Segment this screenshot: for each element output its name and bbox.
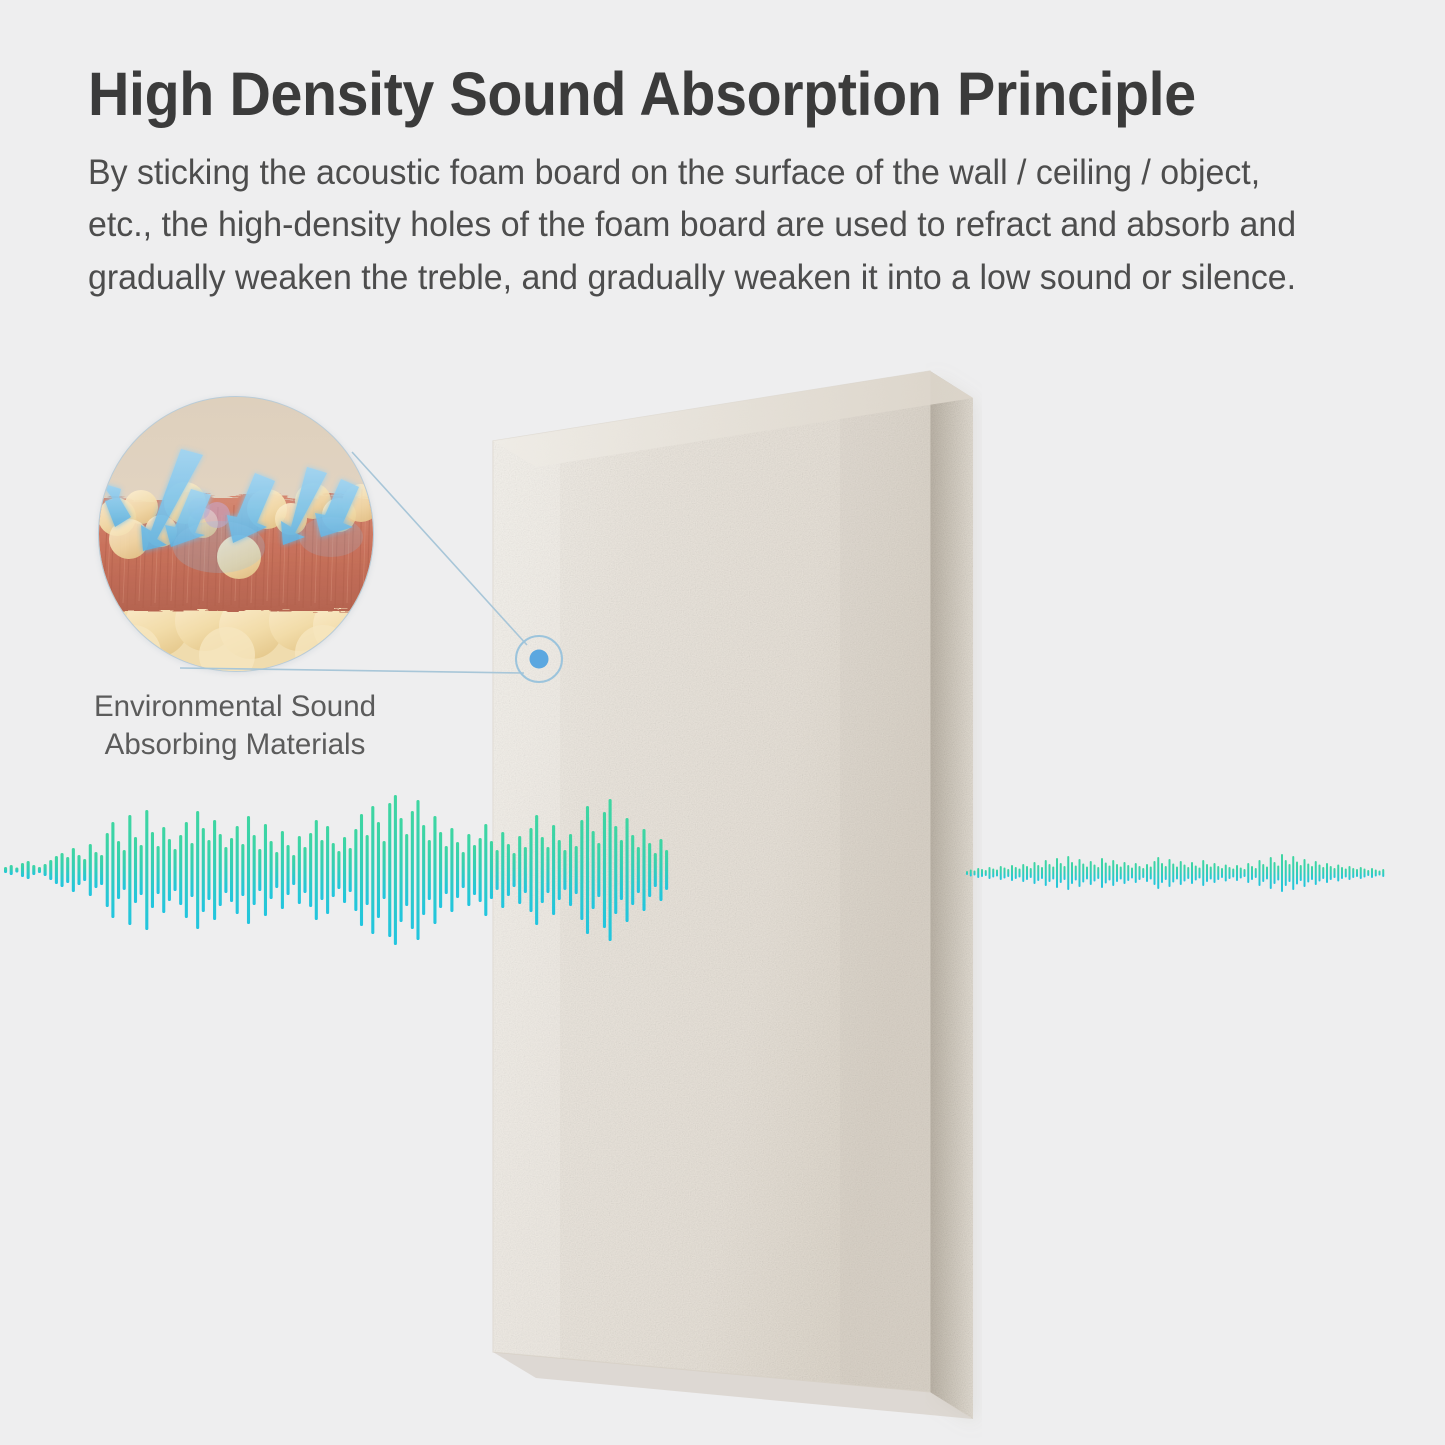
waveform-bar bbox=[400, 818, 403, 922]
waveform-bar bbox=[665, 850, 668, 890]
waveform-bar bbox=[1210, 867, 1212, 880]
waveform-bar bbox=[1289, 864, 1291, 882]
waveform-bar bbox=[1086, 867, 1088, 880]
panel-bottom-shade bbox=[493, 1352, 973, 1419]
waveform-bar bbox=[637, 847, 640, 893]
waveform-bar bbox=[241, 844, 244, 896]
waveform-bar bbox=[1206, 864, 1208, 882]
waveform-bar bbox=[1240, 868, 1242, 879]
waveform-bar bbox=[77, 855, 80, 885]
waveform-bar bbox=[479, 838, 482, 902]
waveform-bar bbox=[473, 845, 476, 895]
waveform-bar bbox=[1101, 858, 1103, 888]
connector-line-top bbox=[352, 452, 527, 645]
waveform-bar bbox=[15, 868, 18, 873]
waveform-bar bbox=[230, 838, 233, 902]
waveform-bar bbox=[111, 822, 114, 918]
waveform-bar bbox=[1304, 859, 1306, 887]
waveform-bar bbox=[428, 840, 431, 900]
waveform-bar bbox=[38, 867, 41, 873]
waveform-bar bbox=[326, 826, 329, 914]
waveform-bar bbox=[1292, 856, 1294, 890]
waveform-bar bbox=[94, 852, 97, 888]
waveform-bar bbox=[586, 806, 589, 934]
magnifier-caption-line2: Absorbing Materials bbox=[60, 726, 410, 764]
waveform-bar bbox=[501, 832, 504, 908]
waveform-bar bbox=[1139, 866, 1141, 880]
waveform-bar bbox=[1150, 867, 1152, 880]
waveform-bar bbox=[55, 856, 58, 884]
waveform-bar bbox=[1094, 865, 1096, 882]
waveform-bar bbox=[1007, 869, 1009, 877]
waveform-bar bbox=[83, 859, 86, 881]
waveform-bar bbox=[1109, 866, 1111, 881]
waveform-bar bbox=[981, 869, 983, 877]
waveform-bar bbox=[614, 826, 617, 914]
waveform-bar bbox=[1146, 864, 1148, 882]
waveform-bar bbox=[416, 800, 419, 940]
waveform-bar bbox=[224, 847, 227, 893]
waveform-bar bbox=[162, 827, 165, 913]
waveform-bar bbox=[32, 865, 35, 875]
waveform-bar bbox=[354, 829, 357, 911]
waveform-bar bbox=[1232, 869, 1234, 878]
waveform-bar bbox=[1187, 867, 1189, 879]
waveform-bar bbox=[1225, 865, 1227, 882]
waveform-bar bbox=[1157, 857, 1159, 889]
waveform-bar bbox=[1105, 863, 1107, 884]
waveform-bar bbox=[1259, 860, 1261, 886]
waveform-bar bbox=[1161, 863, 1163, 883]
waveform-bar bbox=[1079, 859, 1081, 887]
waveform-bar bbox=[1251, 866, 1253, 880]
waveform-bar bbox=[140, 845, 143, 895]
waveform-bar bbox=[1315, 861, 1317, 885]
waveform-bar bbox=[247, 816, 250, 924]
waveform-bar bbox=[603, 812, 606, 928]
waveform-bar bbox=[1371, 868, 1373, 878]
waveform-bar bbox=[309, 833, 312, 907]
waveform-bar bbox=[659, 839, 662, 901]
target-ring bbox=[516, 636, 562, 682]
waveform-bar bbox=[996, 870, 998, 877]
waveform-bar bbox=[1180, 861, 1182, 885]
waveform-bar bbox=[1165, 866, 1167, 880]
waveform-bar bbox=[411, 811, 414, 929]
waveform-bar bbox=[287, 845, 290, 895]
waveform-bar bbox=[89, 844, 92, 896]
waveform-bar bbox=[1285, 860, 1287, 886]
waveform-bar bbox=[1090, 861, 1092, 885]
waveform-bar bbox=[292, 855, 295, 885]
magnifier-caption-line1: Environmental Sound bbox=[94, 690, 376, 723]
waveform-bar bbox=[1026, 866, 1028, 880]
waveform-bar bbox=[1000, 866, 1002, 880]
waveform-bar bbox=[1217, 866, 1219, 880]
waveform-bar bbox=[450, 828, 453, 912]
waveform-bar bbox=[484, 824, 487, 916]
target-dot bbox=[530, 650, 549, 669]
waveform-bar bbox=[145, 810, 148, 930]
waveform-bar bbox=[1116, 864, 1118, 882]
waveform-bar bbox=[1019, 869, 1021, 878]
waveform-bar bbox=[343, 837, 346, 903]
panel-top-rim bbox=[493, 371, 973, 467]
infographic-canvas: High Density Sound Absorption Principle … bbox=[0, 0, 1445, 1445]
waveform-bar bbox=[974, 871, 976, 876]
waveform-bar bbox=[1176, 867, 1178, 880]
waveform-bar bbox=[507, 844, 510, 896]
waveform-bar bbox=[467, 834, 470, 906]
waveform-bar bbox=[445, 846, 448, 894]
waveform-bar bbox=[219, 834, 222, 906]
waveform-bar bbox=[992, 869, 994, 878]
waveform-bar bbox=[1037, 865, 1039, 881]
waveform-bar bbox=[4, 867, 7, 873]
waveform-bar bbox=[21, 863, 24, 877]
waveform-bar bbox=[117, 841, 120, 899]
waveform-bar bbox=[185, 822, 188, 918]
waveform-bar bbox=[552, 825, 555, 915]
waveform-bar bbox=[320, 840, 323, 900]
waveform-bar bbox=[405, 834, 408, 906]
waveform-bar bbox=[1274, 862, 1276, 884]
waveform-bar bbox=[642, 829, 645, 911]
waveform-bar bbox=[337, 851, 340, 889]
waveform-bar bbox=[1199, 868, 1201, 879]
waveform-bar bbox=[1064, 866, 1066, 880]
waveform-bar bbox=[1379, 871, 1381, 876]
magnifier-caption: Environmental Sound Absorbing Materials bbox=[60, 688, 410, 765]
waveform-bar bbox=[1127, 865, 1129, 881]
waveform-bar bbox=[1049, 864, 1051, 882]
waveform-bar bbox=[1311, 866, 1313, 880]
waveform-bar bbox=[134, 837, 137, 903]
waveform-bar bbox=[966, 871, 968, 875]
waveform-bar bbox=[315, 820, 318, 920]
waveform-bar bbox=[654, 853, 657, 887]
waveform-bar bbox=[1375, 870, 1377, 877]
waveform-bar bbox=[371, 806, 374, 934]
waveform-bar bbox=[1124, 862, 1126, 884]
waveform-bar bbox=[49, 860, 52, 880]
waveform-bar bbox=[349, 848, 352, 892]
waveform-bar bbox=[1352, 868, 1354, 878]
waveform-bar bbox=[128, 815, 131, 925]
waveform-bar bbox=[264, 824, 267, 916]
waveform-bar bbox=[275, 852, 278, 888]
waveform-bar bbox=[597, 843, 600, 897]
waveform-bar bbox=[1214, 863, 1216, 883]
waveform-bar bbox=[1034, 862, 1036, 884]
waveform-bar bbox=[1337, 865, 1339, 882]
waveform-incoming bbox=[4, 770, 684, 970]
waveform-bar bbox=[1112, 860, 1114, 886]
waveform-bar bbox=[620, 840, 623, 900]
waveform-bar bbox=[1326, 863, 1328, 883]
waveform-bar bbox=[1334, 868, 1336, 878]
waveform-bar bbox=[558, 840, 561, 900]
waveform-bar bbox=[1060, 863, 1062, 883]
waveform-bar bbox=[1135, 863, 1137, 883]
waveform-bar bbox=[123, 850, 126, 890]
waveform-bar bbox=[1015, 867, 1017, 879]
waveform-bar bbox=[1022, 864, 1024, 882]
waveform-bar bbox=[529, 828, 532, 912]
waveform-bar bbox=[1045, 860, 1047, 886]
waveform-bar bbox=[236, 826, 239, 914]
waveform-bar bbox=[377, 822, 380, 918]
waveform-bar bbox=[1082, 864, 1084, 883]
waveform-bar bbox=[456, 842, 459, 898]
waveform-bar bbox=[1142, 868, 1144, 878]
waveform-bar bbox=[546, 847, 549, 893]
waveform-bar bbox=[168, 839, 171, 901]
waveform-bar bbox=[1364, 869, 1366, 878]
waveform-bar bbox=[1202, 860, 1204, 886]
waveform-bar bbox=[1221, 868, 1223, 878]
waveform-bar bbox=[1319, 865, 1321, 882]
waveform-bar bbox=[1382, 869, 1384, 877]
waveform-bar bbox=[970, 870, 972, 877]
waveform-bar bbox=[174, 849, 177, 891]
waveform-bar bbox=[360, 814, 363, 926]
waveform-bar bbox=[1367, 870, 1369, 876]
waveform-bar bbox=[1281, 854, 1283, 892]
waveform-bar bbox=[196, 811, 199, 929]
waveform-bar bbox=[1131, 868, 1133, 879]
waveform-bar bbox=[1191, 862, 1193, 884]
waveform-bar bbox=[1041, 867, 1043, 879]
waveform-bar bbox=[106, 833, 109, 907]
waveform-bar bbox=[1247, 863, 1249, 883]
waveform-bar bbox=[1120, 867, 1122, 880]
waveform-bar bbox=[1300, 865, 1302, 881]
waveform-bar bbox=[1011, 865, 1013, 881]
waveform-bar bbox=[524, 847, 527, 893]
waveform-bar bbox=[270, 841, 273, 899]
waveform-bar bbox=[1356, 869, 1358, 877]
waveform-bar bbox=[1056, 858, 1058, 888]
page-description: By sticking the acoustic foam board on t… bbox=[88, 146, 1320, 304]
waveform-bar bbox=[626, 818, 629, 922]
waveform-attenuated bbox=[966, 828, 1386, 918]
waveform-bar bbox=[985, 870, 987, 876]
waveform-bar bbox=[1004, 868, 1006, 879]
waveform-bar bbox=[100, 855, 103, 885]
waveform-bar bbox=[989, 867, 991, 879]
waveform-bar bbox=[1030, 868, 1032, 878]
waveform-bar bbox=[1262, 864, 1264, 882]
waveform-bar bbox=[535, 815, 538, 925]
waveform-bar bbox=[563, 850, 566, 890]
waveform-bar bbox=[490, 841, 493, 899]
waveform-bar bbox=[575, 846, 578, 894]
waveform-bar bbox=[496, 850, 499, 890]
waveform-bar bbox=[66, 857, 69, 883]
waveform-bar bbox=[10, 865, 13, 875]
waveform-bar bbox=[332, 843, 335, 897]
waveform-bar bbox=[383, 841, 386, 899]
waveform-bar bbox=[518, 836, 521, 904]
waveform-bar bbox=[366, 835, 369, 905]
waveform-bar bbox=[207, 840, 210, 900]
waveform-bar bbox=[281, 831, 284, 909]
waveform-bar bbox=[1266, 867, 1268, 880]
page-title: High Density Sound Absorption Principle bbox=[88, 62, 1282, 128]
waveform-bar bbox=[592, 831, 595, 909]
waveform-bar bbox=[1075, 866, 1077, 881]
waveform-bar bbox=[394, 795, 397, 945]
waveform-bar bbox=[1345, 869, 1347, 878]
waveform-bar bbox=[190, 843, 193, 897]
waveform-bar bbox=[439, 832, 442, 908]
waveform-bar bbox=[1330, 866, 1332, 880]
waveform-bar bbox=[298, 836, 301, 904]
waveform-bar bbox=[569, 834, 572, 906]
waveform-bar bbox=[1322, 867, 1324, 879]
waveform-bar bbox=[1097, 867, 1099, 879]
waveform-bar bbox=[513, 853, 516, 887]
waveform-bar bbox=[1169, 859, 1171, 887]
waveform-bar bbox=[648, 843, 651, 897]
waveform-bar bbox=[1360, 867, 1362, 879]
waveform-bar bbox=[1195, 866, 1197, 881]
magnifier-circle bbox=[98, 396, 374, 672]
waveform-bar bbox=[213, 820, 216, 920]
waveform-bar bbox=[1052, 867, 1054, 880]
waveform-bar bbox=[157, 846, 160, 894]
waveform-bar bbox=[1067, 856, 1069, 890]
waveform-bar bbox=[1244, 869, 1246, 877]
waveform-bar bbox=[27, 861, 30, 879]
waveform-bar bbox=[151, 832, 154, 908]
waveform-bar bbox=[72, 848, 75, 892]
waveform-bar bbox=[61, 853, 64, 887]
waveform-bar bbox=[1307, 864, 1309, 883]
waveform-bar bbox=[541, 837, 544, 903]
waveform-bar bbox=[462, 852, 465, 888]
waveform-bar bbox=[580, 820, 583, 920]
waveform-bar bbox=[1071, 862, 1073, 884]
waveform-bar bbox=[1236, 865, 1238, 881]
waveform-bar bbox=[303, 847, 306, 893]
waveform-bar bbox=[1184, 865, 1186, 882]
waveform-bar bbox=[258, 849, 261, 891]
waveform-bar bbox=[422, 825, 425, 915]
waveform-bar bbox=[1296, 862, 1298, 885]
waveform-bar bbox=[388, 803, 391, 937]
waveform-bar bbox=[1277, 866, 1279, 881]
waveform-bar bbox=[609, 799, 612, 941]
waveform-bar bbox=[1349, 866, 1351, 880]
waveform-bar bbox=[977, 868, 979, 878]
heading-block: High Density Sound Absorption Principle … bbox=[88, 62, 1358, 303]
waveform-bar bbox=[1154, 861, 1156, 885]
waveform-bar bbox=[202, 828, 205, 912]
waveform-bar bbox=[1341, 867, 1343, 879]
waveform-bar bbox=[1255, 868, 1257, 878]
waveform-bar bbox=[631, 835, 634, 905]
waveform-bar bbox=[1172, 864, 1174, 883]
waveform-bar bbox=[1229, 867, 1231, 879]
waveform-bar bbox=[1270, 857, 1272, 889]
waveform-bar bbox=[44, 864, 47, 876]
waveform-bar bbox=[179, 835, 182, 905]
waveform-bar bbox=[433, 816, 436, 924]
waveform-bar bbox=[253, 835, 256, 905]
